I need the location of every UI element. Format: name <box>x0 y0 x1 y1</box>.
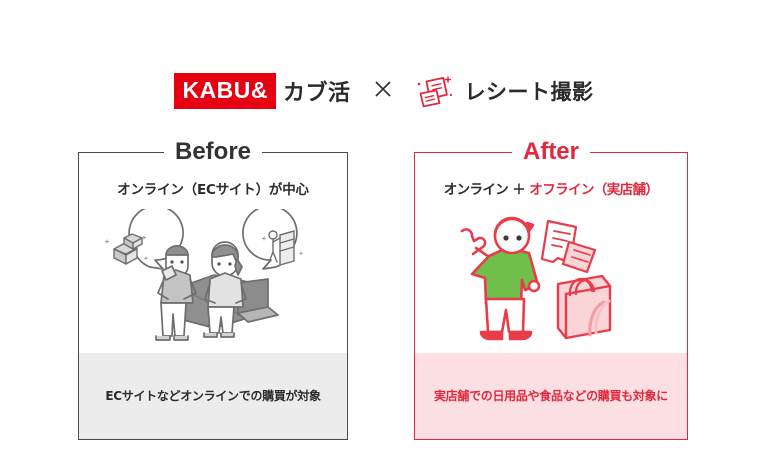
receipt-feature-label: レシート撮影 <box>465 76 594 106</box>
before-panel-title: Before <box>164 139 262 165</box>
kabukatsu-service-name: カブ活 <box>283 75 351 107</box>
after-subtitle-accent: オフライン（実店舗） <box>529 182 658 198</box>
after-footer-text: 実店舗での日用品や食品などの購買も対象に <box>434 388 668 404</box>
kabu-logo-badge: KABU& <box>174 73 276 109</box>
before-panel: Before オンライン（ECサイト）が中心 <box>78 152 348 440</box>
after-subtitle-plain: オンライン ＋ <box>444 182 530 198</box>
people-shopping-online-illustration <box>79 209 347 351</box>
before-panel-footer: ECサイトなどオンラインでの購買が対象 <box>79 353 347 439</box>
receipt-camera-icon <box>415 74 455 110</box>
person-with-receipt-and-shopping-bag-illustration <box>415 209 687 351</box>
after-panel-subtitle: オンライン ＋ オフライン（実店舗） <box>415 181 687 199</box>
before-footer-text: ECサイトなどオンラインでの購買が対象 <box>105 388 320 404</box>
after-panel-title: After <box>512 139 590 165</box>
before-panel-subtitle: オンライン（ECサイト）が中心 <box>79 181 347 199</box>
multiply-icon <box>373 79 393 103</box>
brand-lockup: KABU& カブ活 レシート撮影 <box>0 68 768 114</box>
after-panel-footer: 実店舗での日用品や食品などの購買も対象に <box>415 353 687 439</box>
after-panel: After オンライン ＋ オフライン（実店舗） <box>414 152 688 440</box>
